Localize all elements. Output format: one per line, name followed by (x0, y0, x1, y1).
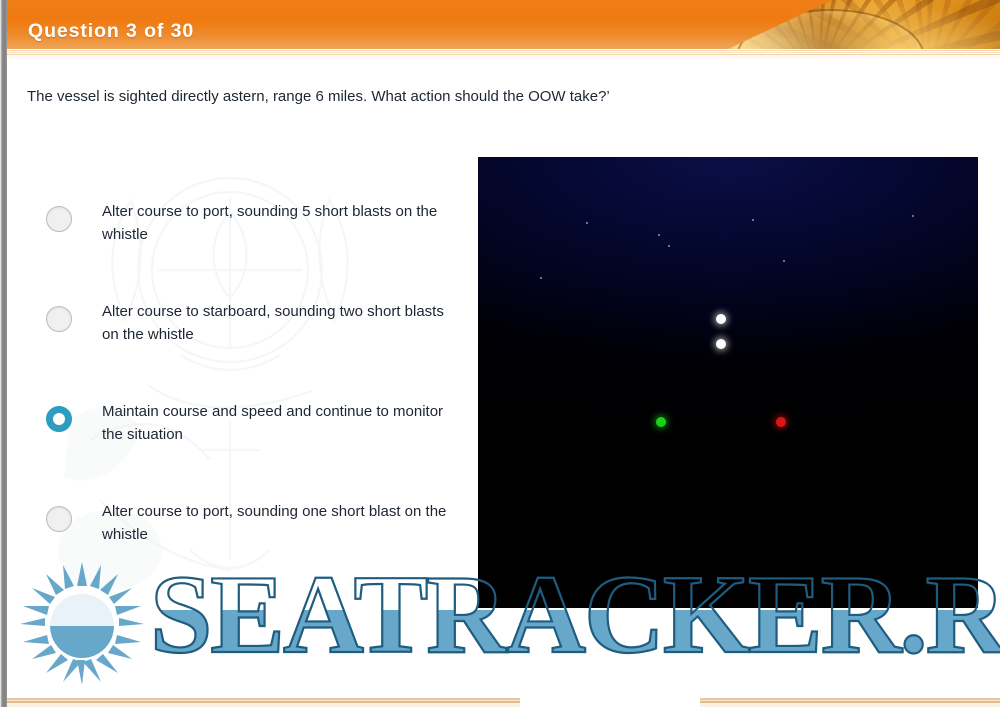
navigation-lights-illustration (478, 157, 978, 608)
answer-option-4[interactable]: Alter course to port, sounding one short… (46, 500, 446, 564)
star (912, 215, 914, 217)
answer-option-3[interactable]: Maintain course and speed and continue t… (46, 400, 446, 464)
star (668, 245, 670, 247)
answer-options-list: Alter course to port, sounding 5 short b… (46, 200, 446, 600)
star (658, 234, 660, 236)
window-left-border (0, 0, 7, 707)
answer-option-label-2: Alter course to starboard, sounding two … (102, 300, 447, 346)
radio-button-3-selected[interactable] (46, 406, 72, 432)
footer-stripe (7, 697, 1000, 707)
compass-astrolabe-icon (670, 0, 1000, 49)
masthead-light-lower (716, 339, 726, 349)
footer-stripe-gap (520, 697, 700, 707)
star (540, 277, 542, 279)
masthead-light-upper (716, 314, 726, 324)
header-divider-stripes (0, 49, 1000, 59)
page-title: Question 3 of 30 (28, 20, 194, 43)
star (783, 260, 785, 262)
header-bar: Question 3 of 30 (0, 0, 1000, 49)
answer-option-label-4: Alter course to port, sounding one short… (102, 500, 447, 546)
answer-option-label-1: Alter course to port, sounding 5 short b… (102, 200, 447, 246)
radio-button-1[interactable] (46, 206, 72, 232)
star (752, 219, 754, 221)
answer-option-2[interactable]: Alter course to starboard, sounding two … (46, 300, 446, 364)
quiz-screen: Question 3 of 30 The vessel is sighted d… (0, 0, 1000, 707)
port-sidelight-green (656, 417, 666, 427)
star (586, 222, 588, 224)
radio-button-4[interactable] (46, 506, 72, 532)
answer-option-1[interactable]: Alter course to port, sounding 5 short b… (46, 200, 446, 264)
question-text: The vessel is sighted directly astern, r… (27, 87, 827, 107)
starboard-sidelight-red (776, 417, 786, 427)
radio-button-2[interactable] (46, 306, 72, 332)
answer-option-label-3: Maintain course and speed and continue t… (102, 400, 447, 446)
